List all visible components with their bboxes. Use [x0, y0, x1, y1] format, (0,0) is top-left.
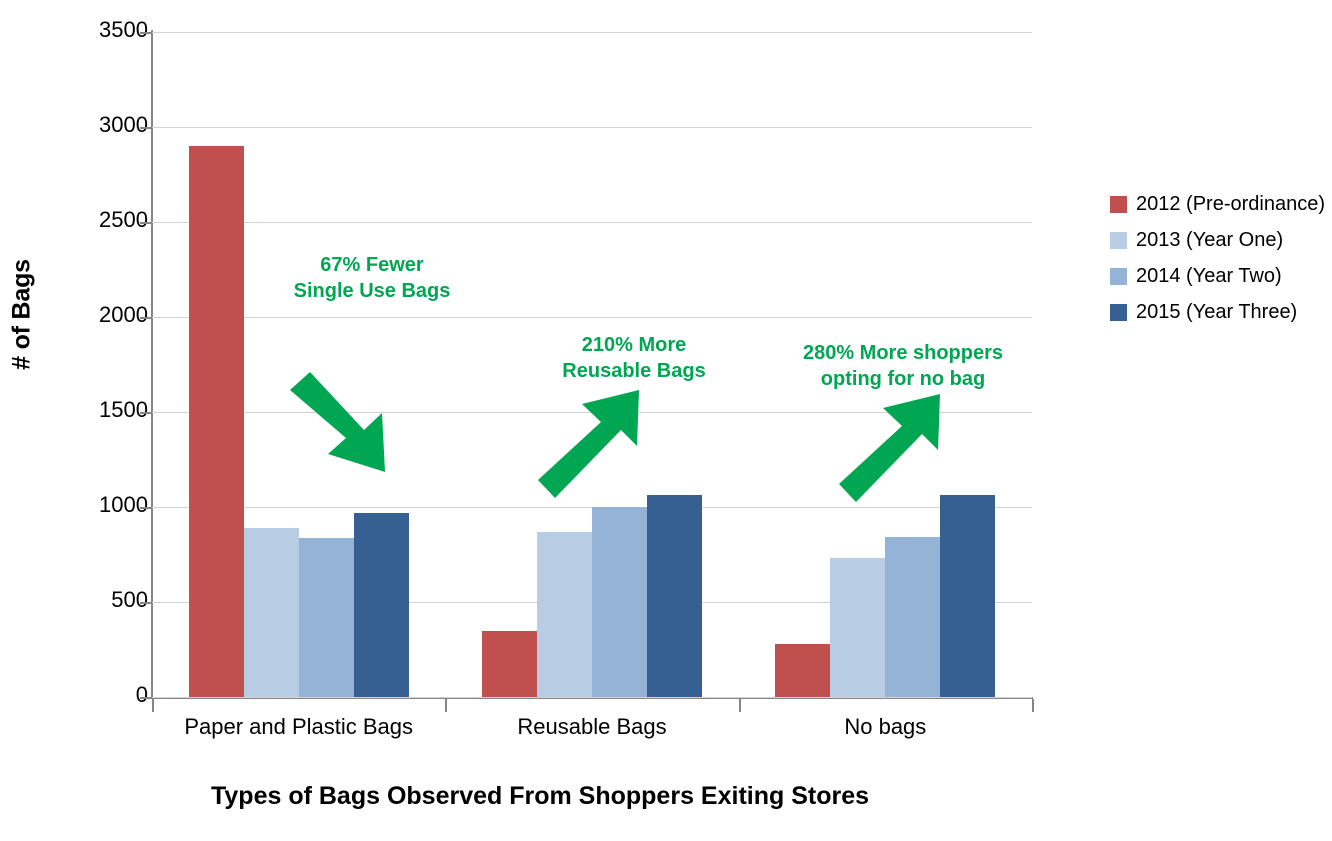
annotation-3: 280% More shoppers opting for no bag [778, 340, 1028, 393]
bar [482, 631, 537, 698]
bar [830, 558, 885, 697]
annotation-1-arrow-down-right-icon [286, 372, 396, 477]
y-tick-mark [140, 507, 152, 509]
bar [244, 528, 299, 697]
legend-label: 2012 (Pre-ordinance) [1136, 193, 1325, 216]
annotation-3-line2: opting for no bag [778, 366, 1028, 392]
legend-swatch-icon [1110, 232, 1127, 249]
legend-label: 2015 (Year Three) [1136, 301, 1297, 324]
y-tick-mark [140, 317, 152, 319]
x-axis-separator [1032, 699, 1034, 712]
x-category-label: No bags [739, 714, 1032, 740]
legend-item[interactable]: 2014 (Year Two) [1110, 258, 1325, 294]
y-tick-label: 2500 [38, 207, 148, 233]
x-axis-separator [152, 699, 154, 712]
chart-legend: 2012 (Pre-ordinance)2013 (Year One)2014 … [1110, 186, 1325, 330]
y-tick-label: 1500 [38, 397, 148, 423]
y-tick-mark [140, 412, 152, 414]
y-tick-label: 1000 [38, 492, 148, 518]
y-tick-mark [140, 602, 152, 604]
annotation-2-arrow-up-right-icon [535, 390, 660, 500]
annotation-3-arrow-up-right-icon [836, 394, 961, 504]
bar [647, 495, 702, 697]
legend-item[interactable]: 2013 (Year One) [1110, 222, 1325, 258]
y-tick-mark [140, 32, 152, 34]
x-axis-separator [445, 699, 447, 712]
y-tick-mark [140, 697, 152, 699]
x-category-label: Paper and Plastic Bags [152, 714, 445, 740]
y-tick-label: 3000 [38, 112, 148, 138]
bar [940, 495, 995, 697]
annotation-1: 67% Fewer Single Use Bags [268, 252, 476, 305]
legend-item[interactable]: 2012 (Pre-ordinance) [1110, 186, 1325, 222]
bar [354, 513, 409, 697]
legend-swatch-icon [1110, 196, 1127, 213]
chart-x-title: Types of Bags Observed From Shoppers Exi… [0, 782, 1080, 811]
gridline [152, 697, 1032, 698]
bar [189, 146, 244, 697]
annotation-2-line2: Reusable Bags [530, 358, 738, 384]
y-tick-label: 0 [38, 682, 148, 708]
y-axis-title: # of Bags [8, 215, 37, 415]
annotation-1-line1: 67% Fewer [268, 252, 476, 278]
annotation-3-line1: 280% More shoppers [778, 340, 1028, 366]
y-tick-mark [140, 127, 152, 129]
annotation-1-line2: Single Use Bags [268, 278, 476, 304]
x-axis-separator [739, 699, 741, 712]
legend-swatch-icon [1110, 268, 1127, 285]
bar [299, 538, 354, 697]
legend-label: 2014 (Year Two) [1136, 265, 1282, 288]
legend-item[interactable]: 2015 (Year Three) [1110, 294, 1325, 330]
y-tick-label: 2000 [38, 302, 148, 328]
annotation-2-line1: 210% More [530, 332, 738, 358]
y-tick-mark [140, 222, 152, 224]
legend-label: 2013 (Year One) [1136, 229, 1283, 252]
bar [775, 644, 830, 697]
annotation-2: 210% More Reusable Bags [530, 332, 738, 385]
x-category-label: Reusable Bags [445, 714, 738, 740]
bar-chart: # of Bags 0500100015002000250030003500 P… [0, 0, 1332, 841]
bar [592, 507, 647, 697]
y-tick-label: 500 [38, 587, 148, 613]
bar [885, 537, 940, 697]
bar [537, 532, 592, 697]
y-tick-label: 3500 [38, 17, 148, 43]
legend-swatch-icon [1110, 304, 1127, 321]
